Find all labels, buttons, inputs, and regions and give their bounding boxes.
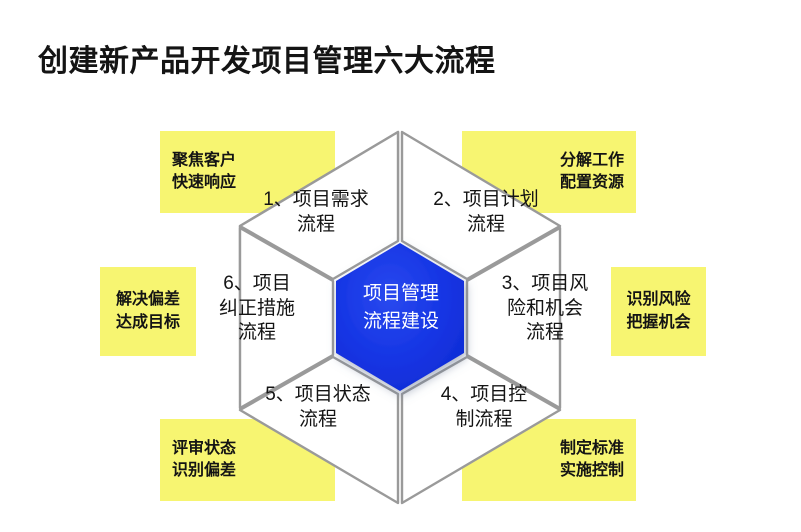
hexagon-diagram-svg xyxy=(0,0,801,532)
hexagon-diagram xyxy=(0,0,801,532)
slide-canvas: 创建新产品开发项目管理六大流程 聚焦客户 快速响应 分解工作 配置资源 解决偏差… xyxy=(0,0,801,532)
